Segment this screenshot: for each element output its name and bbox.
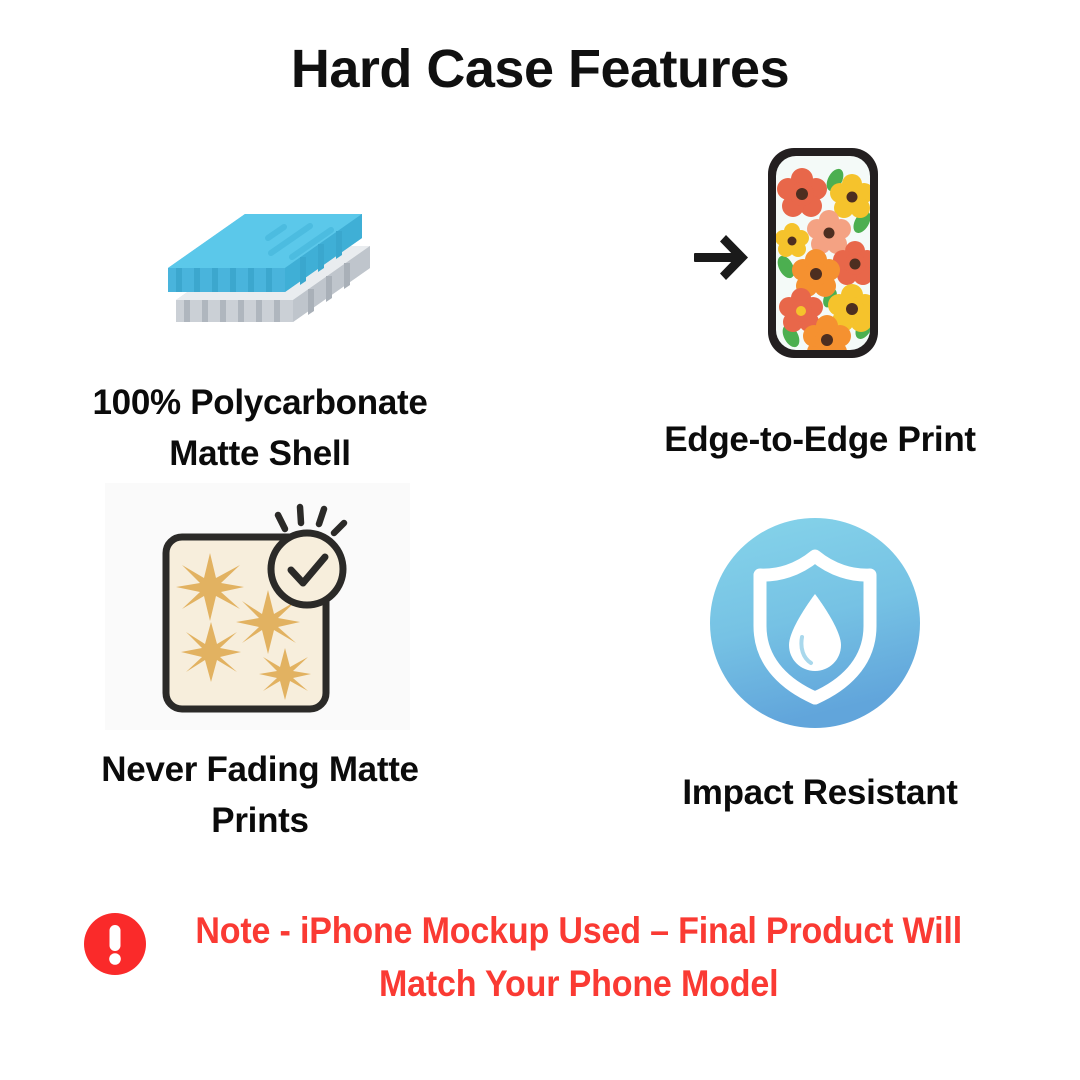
label-line-1: 100% Polycarbonate	[30, 378, 490, 429]
feature-label-never-fading-prints: Never Fading Matte Prints	[30, 745, 490, 847]
floral-phone-case-icon	[690, 140, 920, 375]
note-line-2: Match Your Phone Model	[196, 958, 963, 1011]
feature-infographic: Hard Case Features	[0, 0, 1080, 1080]
feature-label-impact-resistant: Impact Resistant	[600, 768, 1040, 819]
arrow-right-icon	[694, 235, 748, 280]
page-title: Hard Case Features	[0, 38, 1080, 100]
disclaimer-note: Note - iPhone Mockup Used – Final Produc…	[0, 905, 1080, 1010]
label-line-1: Never Fading Matte	[30, 745, 490, 796]
label-line-1: Impact Resistant	[600, 768, 1040, 819]
label-line-2: Prints	[30, 796, 490, 847]
note-line-1: Note - iPhone Mockup Used – Final Produc…	[196, 905, 963, 958]
disclaimer-note-text: Note - iPhone Mockup Used – Final Produc…	[196, 905, 963, 1010]
shield-droplet-icon	[710, 518, 920, 728]
exclamation-circle-icon	[84, 913, 146, 975]
stacked-layers-icon	[158, 168, 388, 358]
label-line-2: Matte Shell	[30, 429, 490, 480]
sparkle-card-check-icon	[148, 497, 373, 727]
feature-label-polycarbonate-shell: 100% Polycarbonate Matte Shell	[30, 378, 490, 480]
label-line-1: Edge-to-Edge Print	[580, 415, 1060, 466]
check-circle-badge-icon	[271, 507, 344, 605]
feature-label-edge-to-edge-print: Edge-to-Edge Print	[580, 415, 1060, 466]
